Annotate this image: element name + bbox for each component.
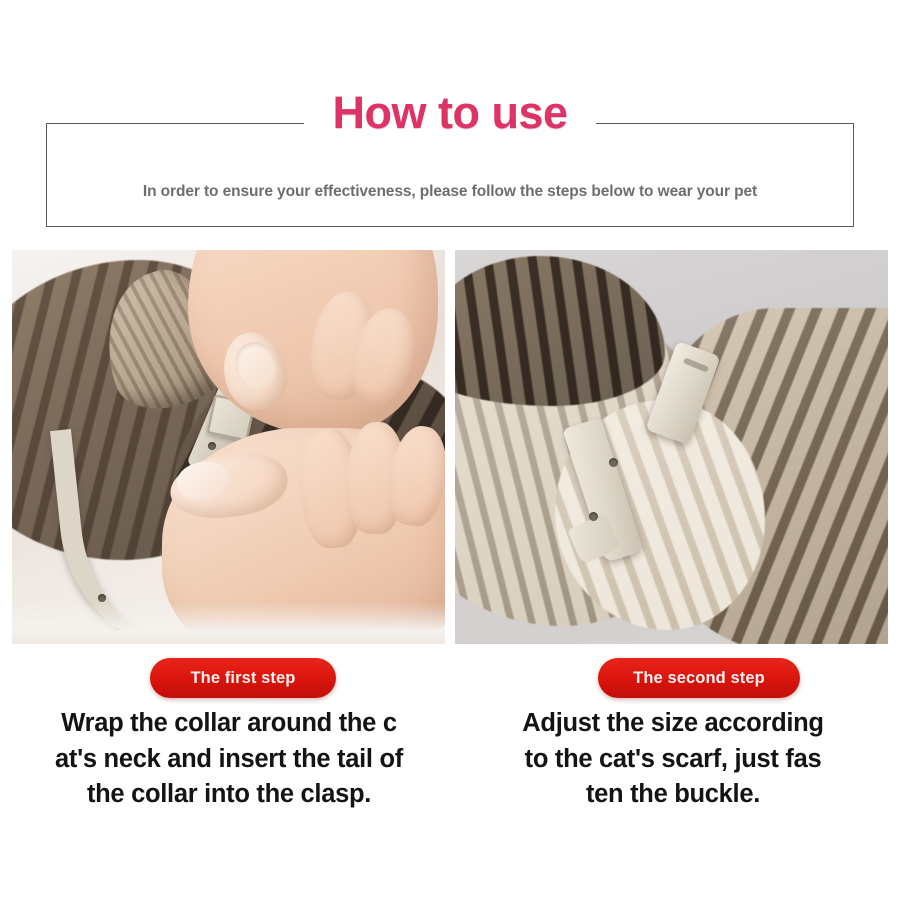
step-1-caption: Wrap the collar around the c at's neck a… [14,706,444,813]
collar-hole [98,594,106,602]
page-title: How to use [332,90,567,135]
caption-line: ten the buckle. [458,777,888,813]
caption-line: to the cat's scarf, just fas [458,742,888,778]
collar-hole [208,442,216,450]
step-2-badge-label: The second step [633,669,765,688]
header-frame-border [46,123,854,227]
caption-line: at's neck and insert the tail of [14,742,444,778]
instruction-photo-row [12,250,888,644]
caption-line: the collar into the clasp. [14,777,444,813]
page-subtitle: In order to ensure your effectiveness, p… [46,183,854,201]
collar-hole [609,458,618,467]
step-2-photo [455,250,888,644]
caption-line: Adjust the size according [458,706,888,742]
step-1-badge: The first step [150,658,336,698]
step-1-badge-label: The first step [190,669,295,688]
step-2-caption: Adjust the size according to the cat's s… [458,706,888,813]
how-to-use-header: How to use In order to ensure your effec… [46,123,854,227]
step-2-badge: The second step [598,658,800,698]
collar-hole [589,512,598,521]
caption-line: Wrap the collar around the c [14,706,444,742]
photo-floor-shadow [12,602,445,644]
step-1-photo [12,250,445,644]
step-badge-row: The first step The second step [12,658,888,698]
